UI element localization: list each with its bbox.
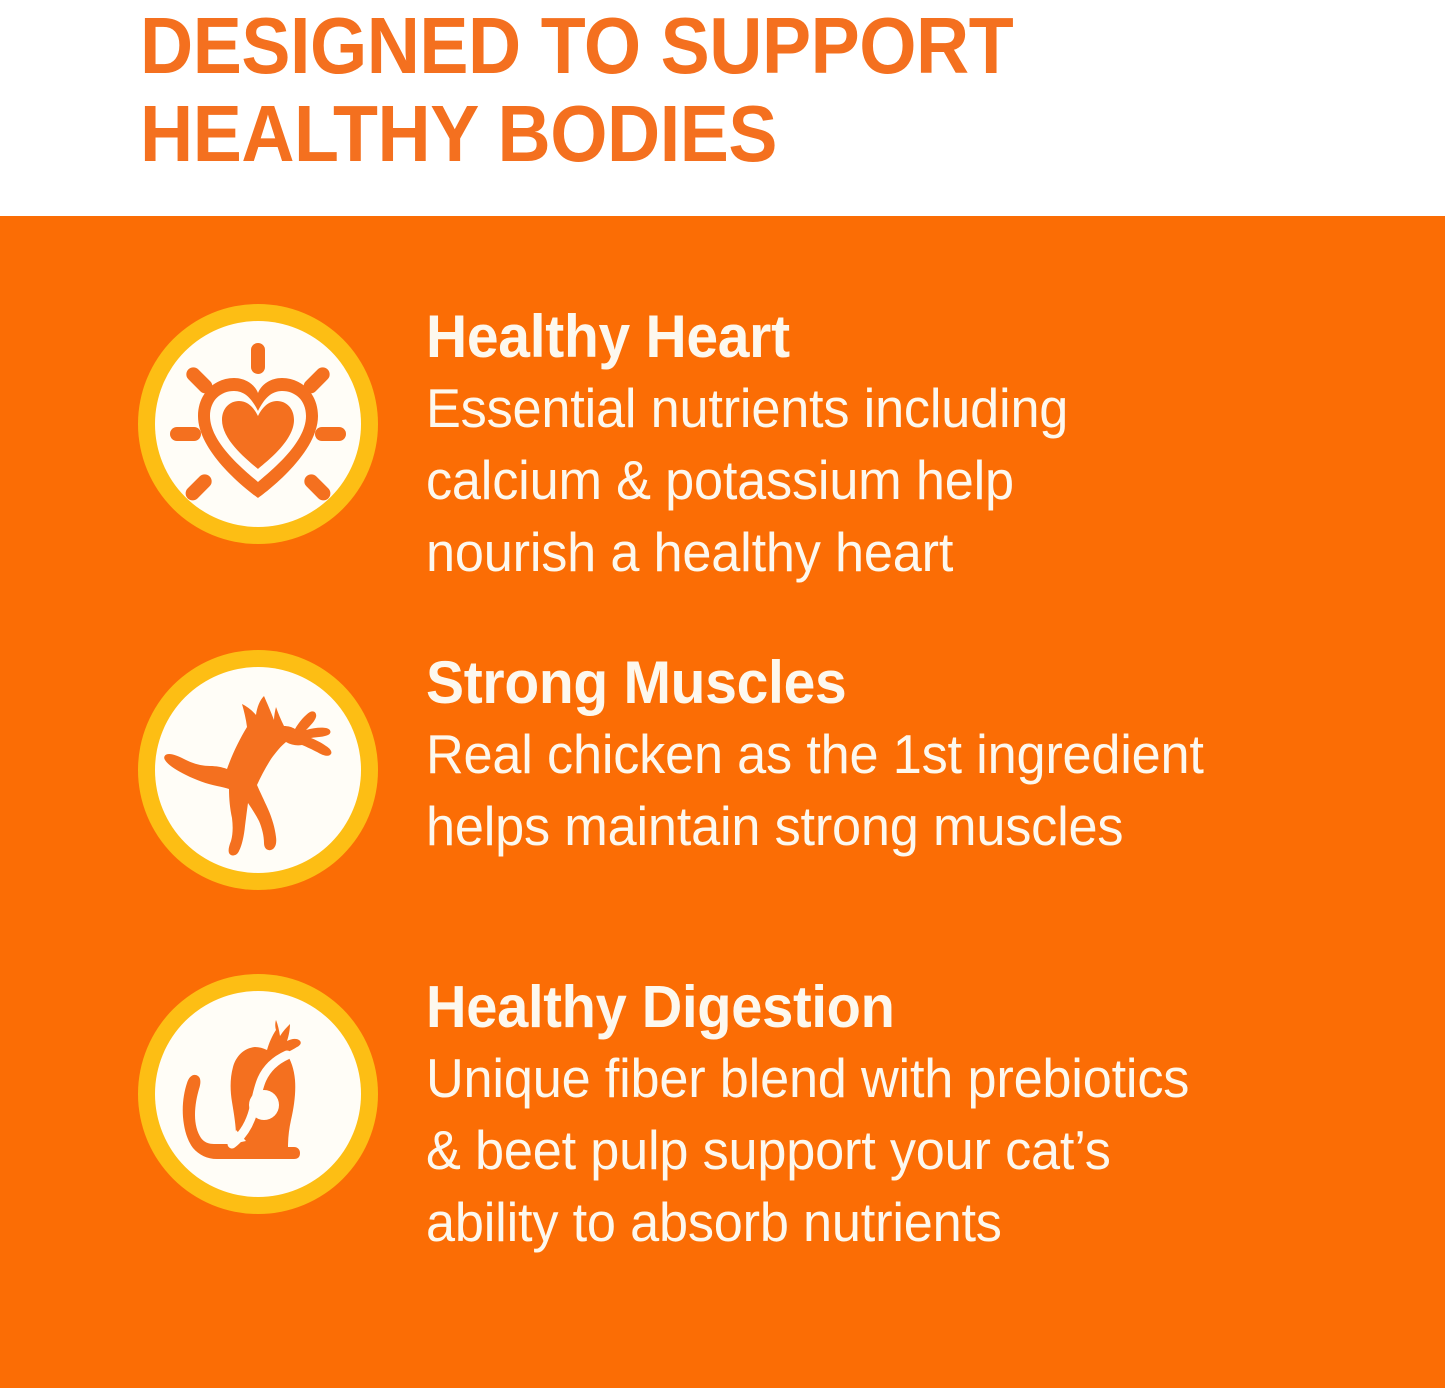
feature-text-healthy-heart: Healthy Heart Essential nutrients includ… bbox=[426, 302, 1356, 588]
shining-heart-icon bbox=[136, 302, 380, 546]
feature-text-strong-muscles: Strong Muscles Real chicken as the 1st i… bbox=[426, 648, 1356, 862]
jumping-cat-icon bbox=[136, 648, 380, 892]
feature-body: Essential nutrients including calcium & … bbox=[426, 372, 1310, 588]
product-benefits-infographic: Designed to Support Healthy Bodies bbox=[0, 0, 1445, 1388]
feature-body: Unique fiber blend with prebiotics & bee… bbox=[426, 1042, 1310, 1258]
feature-text-healthy-digestion: Healthy Digestion Unique fiber blend wit… bbox=[426, 972, 1356, 1258]
feature-row-healthy-heart: Healthy Heart Essential nutrients includ… bbox=[0, 302, 1445, 588]
feature-title: Healthy Digestion bbox=[426, 974, 1310, 1040]
badge-healthy-digestion bbox=[136, 972, 380, 1216]
benefits-panel: Healthy Heart Essential nutrients includ… bbox=[0, 216, 1445, 1388]
feature-row-healthy-digestion: Healthy Digestion Unique fiber blend wit… bbox=[0, 972, 1445, 1258]
page-title: Designed to Support Healthy Bodies bbox=[140, 2, 1152, 178]
feature-row-strong-muscles: Strong Muscles Real chicken as the 1st i… bbox=[0, 648, 1445, 892]
badge-strong-muscles bbox=[136, 648, 380, 892]
feature-title: Healthy Heart bbox=[426, 304, 1310, 370]
badge-healthy-heart bbox=[136, 302, 380, 546]
feature-body: Real chicken as the 1st ingredient helps… bbox=[426, 718, 1310, 862]
header-band: Designed to Support Healthy Bodies bbox=[0, 0, 1445, 216]
sitting-cat-digestion-icon bbox=[136, 972, 380, 1216]
feature-title: Strong Muscles bbox=[426, 650, 1310, 716]
